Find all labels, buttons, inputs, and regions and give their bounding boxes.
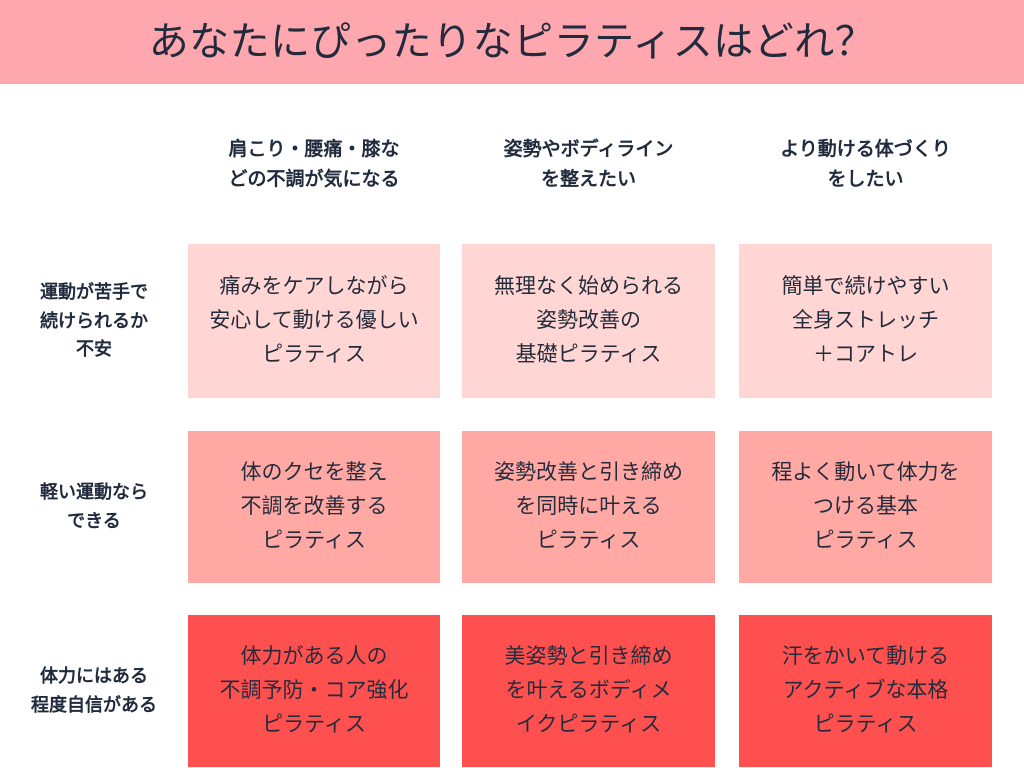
- matrix-cell-r2c2: 姿勢改善と引き締め を同時に叶える ピラティス: [462, 431, 715, 583]
- column-header-3-label: より動ける体づくり をしたい: [780, 135, 951, 194]
- pilates-matrix-infographic: あなたにぴったりなピラティスはどれ？ 肩こり・腰痛・膝な どの不調が気になる 姿…: [0, 0, 1024, 768]
- row-header-3: 体力にはある 程度自信がある: [0, 615, 188, 767]
- matrix-cell-r2c3: 程よく動いて体力を つける基本 ピラティス: [739, 431, 992, 583]
- row-header-3-label: 体力にはある 程度自信がある: [31, 662, 157, 720]
- column-header-1-label: 肩こり・腰痛・膝な どの不調が気になる: [228, 135, 399, 194]
- matrix-cell-r2c3-label: 程よく動いて体力を つける基本 ピラティス: [771, 456, 959, 558]
- comparison-matrix: 肩こり・腰痛・膝な どの不調が気になる 姿勢やボディライン を整えたい より動け…: [0, 84, 1024, 768]
- matrix-cell-r1c1-label: 痛みをケアしながら 安心して動ける優しい ピラティス: [209, 270, 418, 372]
- page-title: あなたにぴったりなピラティスはどれ？: [149, 22, 876, 62]
- column-header-2: 姿勢やボディライン を整えたい: [462, 118, 715, 211]
- header-band: あなたにぴったりなピラティスはどれ？: [0, 0, 1024, 84]
- row-header-1: 運動が苦手で 続けられるか 不安: [0, 244, 188, 398]
- matrix-cell-r3c1: 体力がある人の 不調予防・コア強化 ピラティス: [188, 615, 440, 767]
- matrix-cell-r1c1: 痛みをケアしながら 安心して動ける優しい ピラティス: [188, 244, 440, 398]
- column-header-2-label: 姿勢やボディライン を整えたい: [504, 135, 674, 194]
- matrix-cell-r3c3: 汗をかいて動ける アクティブな本格 ピラティス: [739, 615, 992, 767]
- column-header-1: 肩こり・腰痛・膝な どの不調が気になる: [188, 118, 440, 211]
- matrix-cell-r3c2-label: 美姿勢と引き締め を叶えるボディメ イクピラティス: [505, 640, 673, 742]
- matrix-cell-r3c1-label: 体力がある人の 不調予防・コア強化 ピラティス: [220, 640, 409, 742]
- matrix-cell-r2c2-label: 姿勢改善と引き締め を同時に叶える ピラティス: [494, 456, 683, 558]
- column-header-3: より動ける体づくり をしたい: [739, 118, 992, 211]
- matrix-cell-r3c2: 美姿勢と引き締め を叶えるボディメ イクピラティス: [462, 615, 715, 767]
- matrix-cell-r3c3-label: 汗をかいて動ける アクティブな本格 ピラティス: [782, 640, 949, 742]
- matrix-cell-r1c2-label: 無理なく始められる 姿勢改善の 基礎ピラティス: [494, 270, 683, 372]
- row-header-2-label: 軽い運動なら できる: [40, 478, 148, 536]
- matrix-cell-r1c3: 簡単で続けやすい 全身ストレッチ ＋コアトレ: [739, 244, 992, 398]
- matrix-cell-r1c3-label: 簡単で続けやすい 全身ストレッチ ＋コアトレ: [782, 270, 950, 372]
- matrix-cell-r2c1: 体のクセを整え 不調を改善する ピラティス: [188, 431, 440, 583]
- matrix-cell-r1c2: 無理なく始められる 姿勢改善の 基礎ピラティス: [462, 244, 715, 398]
- matrix-cell-r2c1-label: 体のクセを整え 不調を改善する ピラティス: [241, 456, 388, 558]
- row-header-1-label: 運動が苦手で 続けられるか 不安: [40, 278, 148, 364]
- row-header-2: 軽い運動なら できる: [0, 431, 188, 583]
